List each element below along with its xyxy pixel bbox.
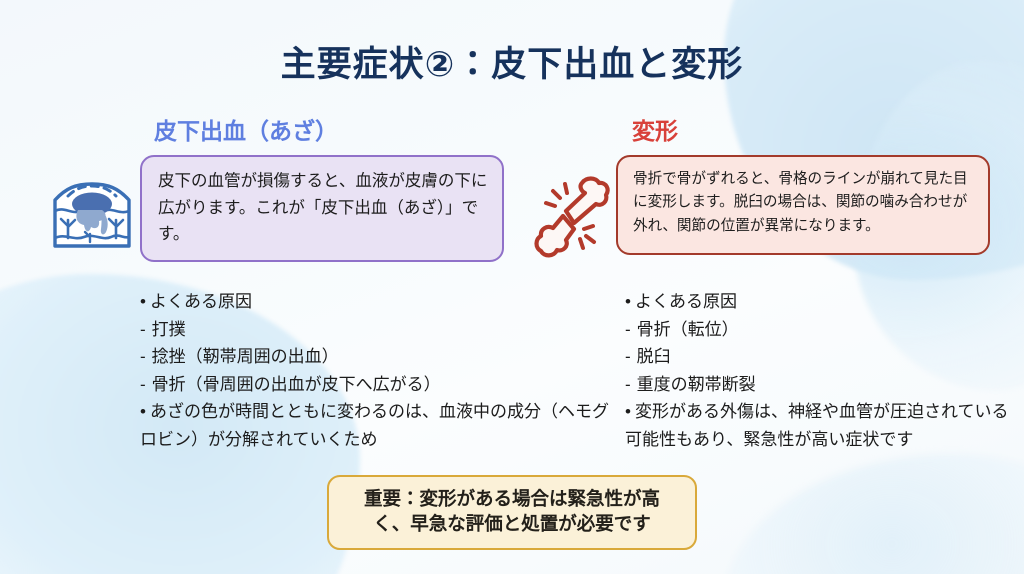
list-item: 骨折（骨周囲の出血が皮下へ広がる）	[140, 371, 620, 399]
slide-root: 主要症状②：皮下出血と変形 皮下出血（あざ）	[0, 0, 1024, 574]
list-item: 重度の靭帯断裂	[625, 371, 1024, 399]
list-item: 脱臼	[625, 343, 1024, 371]
list-item: 捻挫（靭帯周囲の出血）	[140, 343, 620, 371]
list-item: よくある原因	[625, 288, 1024, 316]
important-notice-banner: 重要：変形がある場合は緊急性が高く、早急な評価と処置が必要です	[327, 475, 697, 550]
skin-bruise-icon	[44, 165, 140, 261]
list-item: あざの色が時間とともに変わるのは、血液中の成分（ヘモグロビン）が分解されていくた…	[140, 398, 620, 453]
slide-content: 主要症状②：皮下出血と変形 皮下出血（あざ）	[0, 0, 1024, 574]
right-bullet-list: よくある原因 骨折（転位） 脱臼 重度の靭帯断裂 変形がある外傷は、神経や血管が…	[625, 288, 1024, 453]
bruise-description-card: 皮下の血管が損傷すると、血液が皮膚の下に広がります。これが「皮下出血（あざ）」で…	[140, 155, 504, 262]
list-item: 骨折（転位）	[625, 316, 1024, 344]
list-item: 変形がある外傷は、神経や血管が圧迫されている可能性もあり、緊急性が高い症状です	[625, 398, 1024, 453]
column-deformity: 変形	[520, 112, 990, 261]
list-item: 打撲	[140, 316, 620, 344]
right-column-heading: 変形	[520, 112, 990, 146]
list-item: よくある原因	[140, 288, 620, 316]
left-column-heading: 皮下出血（あざ）	[44, 112, 504, 146]
deformity-description-card: 骨折で骨がずれると、骨格のラインが崩れて見た目に変形します。脱臼の場合は、関節の…	[616, 155, 990, 255]
broken-bone-icon	[520, 165, 616, 261]
column-subcutaneous-bleeding: 皮下出血（あざ）	[44, 112, 504, 262]
left-column-body: 皮下の血管が損傷すると、血液が皮膚の下に広がります。これが「皮下出血（あざ）」で…	[44, 155, 504, 262]
slide-title: 主要症状②：皮下出血と変形	[0, 36, 1024, 87]
right-column-body: 骨折で骨がずれると、骨格のラインが崩れて見た目に変形します。脱臼の場合は、関節の…	[520, 155, 990, 261]
left-bullet-list: よくある原因 打撲 捻挫（靭帯周囲の出血） 骨折（骨周囲の出血が皮下へ広がる） …	[140, 288, 620, 453]
